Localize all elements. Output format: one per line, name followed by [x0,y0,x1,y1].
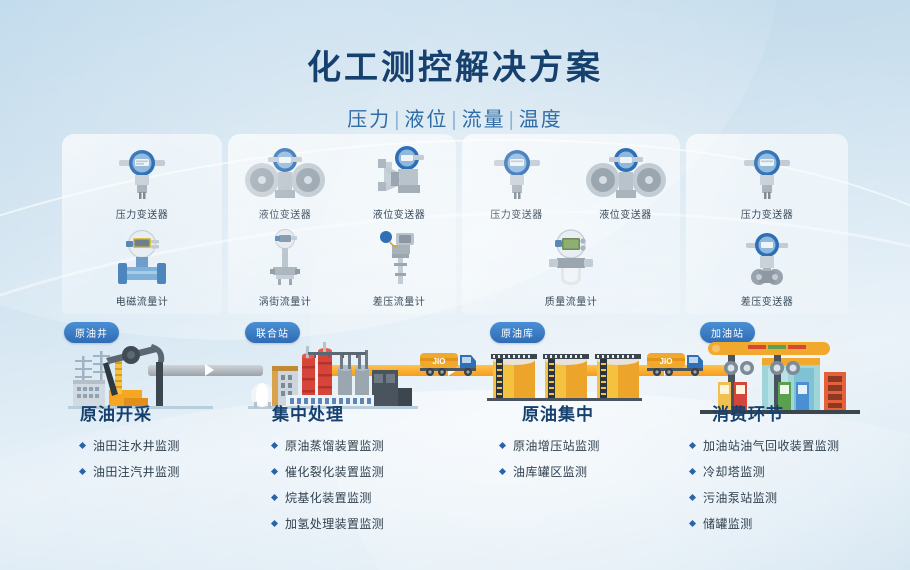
product-label: 电磁流量计 [62,293,222,308]
product-item[interactable]: 液位变送器 [235,134,335,221]
card-row: 差压变送器 [686,221,848,308]
product-label: 液位变送器 [349,206,449,221]
stage-column-4: 消费环节 加油站油气回收装置监测 冷却塔监测 污油泵站监测 储罐监测 [690,400,890,541]
pressure-transmitter-icon [62,142,222,200]
truck-label: JIO [433,357,446,366]
oil-depot-illustration [487,346,642,406]
diamond-bullet-icon [271,520,278,527]
pressure-transmitter-icon [686,142,848,200]
stage-title: 集中处理 [272,400,477,425]
product-card-1[interactable]: 压力变送器 [62,134,222,314]
product-label: 差压流量计 [349,293,449,308]
product-card-3[interactable]: 压力变送器 [462,134,680,314]
product-item[interactable]: 压力变送器 [686,134,848,221]
diamond-bullet-icon [689,494,696,501]
stage-item-list: 原油增压站监测 油库罐区监测 [500,437,690,480]
product-card-2[interactable]: 液位变送器 [228,134,456,314]
list-item-label: 油田注汽井监测 [93,463,180,480]
list-item: 油库罐区监测 [500,463,690,480]
subtitle-part-level: 液位 [404,109,448,131]
product-label: 液位变送器 [235,206,335,221]
stage-column-2: 集中处理 原油蒸馏装置监测 催化裂化装置监测 烷基化装置监测 加氢处理装置监测 [272,400,477,541]
list-item: 污油泵站监测 [690,489,890,506]
card-row: 电磁流量计 [62,221,222,308]
product-item[interactable]: 质量流量计 [462,221,680,308]
card-row: 压力变送器 [462,134,680,221]
card-row: 压力变送器 [62,134,222,221]
product-card-4[interactable]: 压力变送器 [686,134,848,314]
list-item-label: 原油蒸馏装置监测 [285,437,384,454]
card-row: 涡街流量计 [228,221,456,308]
product-label: 质量流量计 [462,293,680,308]
list-item-label: 冷却塔监测 [703,463,765,480]
diamond-bullet-icon [499,468,506,475]
tanker-truck-illustration: JIO [418,348,480,378]
tanker-truck-illustration: JIO [645,348,707,378]
product-label: 压力变送器 [62,206,222,221]
list-item-label: 烷基化装置监测 [285,489,372,506]
diamond-bullet-icon [79,468,86,475]
subtitle-part-pressure: 压力 [347,109,391,131]
product-item[interactable]: 涡街流量计 [235,221,335,308]
product-item[interactable]: 电磁流量计 [62,221,222,308]
subtitle-separator: | [394,109,401,131]
list-item: 储罐监测 [690,515,890,532]
diamond-bullet-icon [79,442,86,449]
truck-label: JIO [660,357,673,366]
stage-column-3: 原油集中 原油增压站监测 油库罐区监测 [500,400,690,489]
product-label: 涡街流量计 [235,293,335,308]
list-item: 油田注汽井监测 [80,463,265,480]
list-item-label: 加氢处理装置监测 [285,515,384,532]
list-item-label: 储罐监测 [703,515,753,532]
stage-item-list: 加油站油气回收装置监测 冷却塔监测 污油泵站监测 储罐监测 [690,437,890,532]
card-row: 液位变送器 [228,134,456,221]
stage-item-list: 原油蒸馏装置监测 催化裂化装置监测 烷基化装置监测 加氢处理装置监测 [272,437,477,532]
differential-pressure-flowmeter-icon [349,229,449,287]
list-item: 加氢处理装置监测 [272,515,477,532]
pressure-transmitter-icon [467,142,567,200]
diamond-bullet-icon [271,442,278,449]
stage-title: 原油集中 [522,400,690,425]
product-cards: 压力变送器 [62,134,848,314]
electromagnetic-flowmeter-icon [62,229,222,287]
product-item[interactable]: 压力变送器 [62,134,222,221]
diamond-bullet-icon [689,468,696,475]
product-item[interactable]: 液位变送器 [576,134,676,221]
vortex-flowmeter-icon [235,229,335,287]
level-transmitter-flange-icon [235,142,335,200]
diamond-bullet-icon [271,494,278,501]
list-item-label: 油库罐区监测 [513,463,587,480]
subtitle-separator: | [451,109,458,131]
product-item[interactable]: 差压变送器 [686,221,848,308]
product-item[interactable]: 液位变送器 [349,134,449,221]
product-label: 压力变送器 [686,206,848,221]
diamond-bullet-icon [499,442,506,449]
infographic-root: 化工测控解决方案 压力|液位|流量|温度 [0,0,910,570]
stage-item-list: 油田注水井监测 油田注汽井监测 [80,437,265,480]
list-item-label: 油田注水井监测 [93,437,180,454]
list-item: 油田注水井监测 [80,437,265,454]
diamond-bullet-icon [689,520,696,527]
subtitle-separator: | [509,109,516,131]
product-item[interactable]: 差压流量计 [349,221,449,308]
product-label: 压力变送器 [467,206,567,221]
stage-badge-3: 原油库 [490,322,545,343]
list-item-label: 催化裂化装置监测 [285,463,384,480]
list-item-label: 原油增压站监测 [513,437,600,454]
list-item-label: 污油泵站监测 [703,489,777,506]
stage-title: 消费环节 [712,400,890,425]
card-row: 质量流量计 [462,221,680,308]
diamond-bullet-icon [689,442,696,449]
header: 化工测控解决方案 压力|液位|流量|温度 [0,0,910,132]
list-item: 冷却塔监测 [690,463,890,480]
subtitle: 压力|液位|流量|温度 [0,103,910,132]
level-transmitter-flange-icon [576,142,676,200]
diamond-bullet-icon [271,468,278,475]
list-item: 原油蒸馏装置监测 [272,437,477,454]
product-item[interactable]: 压力变送器 [467,134,567,221]
stage-column-1: 原油开采 油田注水井监测 油田注汽井监测 [80,400,265,489]
card-row: 压力变送器 [686,134,848,221]
page-title: 化工测控解决方案 [0,40,910,89]
list-item-label: 加油站油气回收装置监测 [703,437,839,454]
product-label: 液位变送器 [576,206,676,221]
list-item: 催化裂化装置监测 [272,463,477,480]
list-item: 烷基化装置监测 [272,489,477,506]
differential-pressure-transmitter-icon [686,229,848,287]
list-item: 原油增压站监测 [500,437,690,454]
product-label: 差压变送器 [686,293,848,308]
badge-label: 原油库 [490,322,545,343]
stage-title: 原油开采 [80,400,265,425]
subtitle-part-temperature: 温度 [519,109,563,131]
list-item: 加油站油气回收装置监测 [690,437,890,454]
mass-flowmeter-icon [462,229,680,287]
level-transmitter-remote-icon [349,142,449,200]
subtitle-part-flow: 流量 [462,109,506,131]
